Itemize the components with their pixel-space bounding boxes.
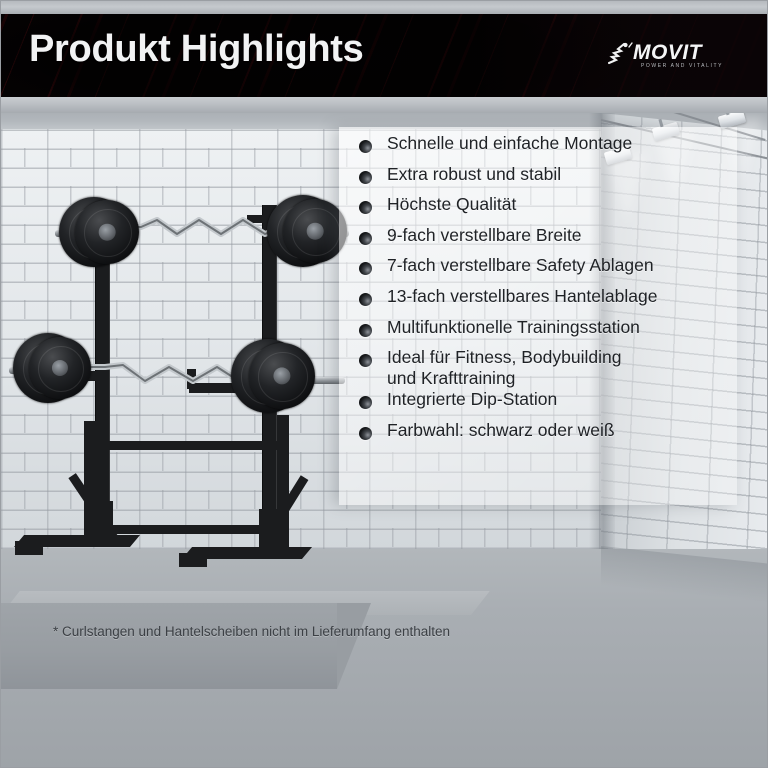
highlight-item: 7-fach verstellbare Safety Ablagen <box>351 255 751 286</box>
highlight-item-label: 13-fach verstellbares Hantelablage <box>387 286 657 307</box>
rack-cross-brace-lower <box>105 525 269 534</box>
bullet-sphere-icon <box>359 262 372 275</box>
rack-cross-brace-upper <box>95 441 277 450</box>
highlight-item: 13-fach verstellbares Hantelablage <box>351 286 751 317</box>
movit-logo: MOVIT POWER AND VITALITY <box>603 41 743 75</box>
bullet-sphere-icon <box>359 324 372 337</box>
highlight-item-label: Integrierte Dip-Station <box>387 389 557 410</box>
concrete-platform-side <box>337 603 371 689</box>
highlight-item-label: Multifunktionelle Trainingsstation <box>387 317 640 338</box>
bullet-sphere-icon <box>359 201 372 214</box>
highlight-item-label: Ideal für Fitness, Bodybuilding und Kraf… <box>387 347 621 389</box>
bullet-sphere-icon <box>359 232 372 245</box>
highlight-item: Integrierte Dip-Station <box>351 389 751 420</box>
highlight-item-label: Farbwahl: schwarz oder weiß <box>387 420 615 441</box>
header-top-strip <box>1 1 768 14</box>
bullet-sphere-icon <box>359 171 372 184</box>
bullet-sphere-icon <box>359 140 372 153</box>
highlight-item-label: Schnelle und einfache Montage <box>387 133 632 154</box>
logo-tagline: POWER AND VITALITY <box>641 63 723 69</box>
highlight-item-label: Extra robust und stabil <box>387 164 561 185</box>
highlight-item: Extra robust und stabil <box>351 164 751 195</box>
highlight-item: Höchste Qualität <box>351 194 751 225</box>
highlight-item: Ideal für Fitness, Bodybuilding und Kraf… <box>351 347 751 389</box>
highlight-item-label: Höchste Qualität <box>387 194 516 215</box>
highlight-item: Multifunktionelle Trainingsstation <box>351 317 751 348</box>
page-title: Produkt Highlights <box>29 28 363 71</box>
highlight-item-label: 7-fach verstellbare Safety Ablagen <box>387 255 654 276</box>
highlight-item: Schnelle und einfache Montage <box>351 133 751 164</box>
footnote-disclaimer: * Curlstangen und Hantelscheiben nicht i… <box>53 621 450 642</box>
bullet-sphere-icon <box>359 293 372 306</box>
product-highlights-poster: * Curlstangen und Hantelscheiben nicht i… <box>0 0 768 768</box>
highlights-list: Schnelle und einfache MontageExtra robus… <box>351 133 751 450</box>
weight-plate <box>75 200 139 264</box>
highlight-item-label: 9-fach verstellbare Breite <box>387 225 582 246</box>
weight-plate <box>29 337 91 399</box>
highlight-item: Farbwahl: schwarz oder weiß <box>351 420 751 451</box>
concrete-platform-face <box>1 603 337 689</box>
rack-foot-rear-right <box>259 509 279 553</box>
rack-foot-right-front <box>179 553 207 567</box>
weight-plate <box>249 343 315 409</box>
bullet-sphere-icon <box>359 396 372 409</box>
weight-plate <box>283 199 347 263</box>
highlight-item: 9-fach verstellbare Breite <box>351 225 751 256</box>
header-bottom-strip <box>1 97 768 113</box>
running-figure-icon <box>605 42 633 66</box>
logo-wordmark: MOVIT <box>633 41 702 65</box>
rack-foot-left-front <box>15 541 43 555</box>
bullet-sphere-icon <box>359 427 372 440</box>
rack-foot-rear-left <box>93 501 113 545</box>
bullet-sphere-icon <box>359 354 372 367</box>
